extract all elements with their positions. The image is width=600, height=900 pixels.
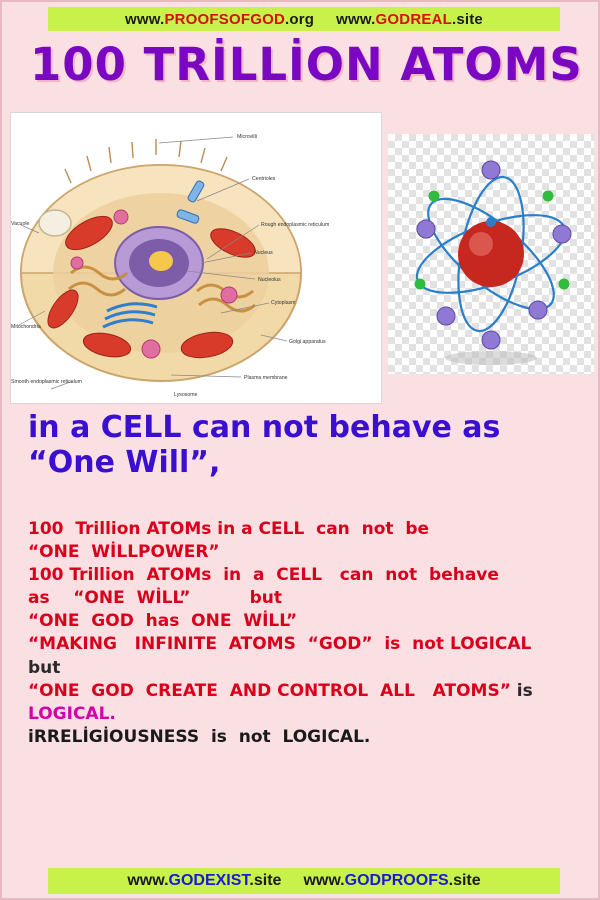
body-line: LOGICAL.	[28, 703, 588, 725]
svg-text:Nucleus: Nucleus	[254, 250, 273, 256]
body-segment: “MAKING INFINITE ATOMS “GOD” is not LOGI…	[28, 634, 531, 654]
svg-text:Mitochondria: Mitochondria	[11, 324, 41, 330]
poster-root: www.PROOFSOFGOD.org www.GODREAL.site 100…	[0, 0, 600, 900]
svg-text:Lysosome: Lysosome	[174, 392, 198, 398]
svg-text:Vacuole: Vacuole	[11, 221, 29, 227]
svg-text:Rough endoplasmic reticulum: Rough endoplasmic reticulum	[261, 222, 329, 228]
url-suffix: .site	[452, 11, 483, 28]
svg-text:Cytoplasm: Cytoplasm	[271, 300, 296, 306]
body-line: as “ONE WİLL” but	[28, 587, 588, 609]
body-segment: “ONE GOD CREATE AND CONTROL ALL ATOMS”	[28, 681, 511, 701]
url-suffix: .site	[249, 872, 281, 889]
page-title: 100 TRİLLİON ATOMS	[30, 38, 583, 91]
url-domain: GODEXIST	[169, 872, 250, 889]
body-segment: 100 Trillion ATOMs in a CELL can not beh…	[28, 565, 499, 585]
svg-text:Centrioles: Centrioles	[252, 176, 276, 182]
body-segment: but	[28, 658, 60, 678]
url-prefix: www.	[336, 11, 375, 28]
body-segment: “ONE WİLLPOWER”	[28, 542, 220, 562]
body-line: “ONE GOD has ONE WİLL”	[28, 610, 588, 632]
body-segment: “ONE GOD has ONE WİLL”	[28, 611, 297, 631]
svg-text:Golgi apparatus: Golgi apparatus	[289, 339, 326, 345]
atom-model-illustration	[388, 134, 594, 374]
subhead-line-1: in a CELL can not behave as	[28, 410, 500, 445]
body-line: 100 Trillion ATOMs in a CELL can not be	[28, 518, 588, 540]
url-domain: GODREAL	[376, 11, 452, 28]
url-prefix: www.	[303, 872, 344, 889]
animal-cell-diagram: Microvilli Centrioles Rough endoplasmic …	[10, 112, 382, 404]
body-line: 100 Trillion ATOMs in a CELL can not beh…	[28, 564, 588, 586]
url-prefix: www.	[125, 11, 164, 28]
top-banner: www.PROOFSOFGOD.org www.GODREAL.site	[48, 7, 560, 31]
body-segment: iRRELİGİOUSNESS is not LOGICAL.	[28, 727, 370, 747]
body-segment: is	[511, 681, 533, 701]
url-suffix: .site	[449, 872, 481, 889]
body-segment: as “ONE WİLL” but	[28, 588, 282, 608]
body-line: “ONE GOD CREATE AND CONTROL ALL ATOMS” i…	[28, 680, 588, 702]
bottom-banner: www.GODEXIST.site www.GODPROOFS.site	[48, 868, 560, 894]
body-line: iRRELİGİOUSNESS is not LOGICAL.	[28, 726, 588, 748]
svg-text:Microvilli: Microvilli	[237, 134, 257, 140]
illustration-row: Microvilli Centrioles Rough endoplasmic …	[10, 112, 594, 402]
body-segment: LOGICAL.	[28, 704, 116, 724]
url-prefix: www.	[127, 872, 168, 889]
bottom-banner-link-2[interactable]: www.GODPROOFS.site	[303, 872, 480, 890]
url-suffix: .org	[285, 11, 314, 28]
top-banner-link-2[interactable]: www.GODREAL.site	[336, 11, 483, 28]
body-line: but	[28, 657, 588, 679]
body-text: 100 Trillion ATOMs in a CELL can not be …	[28, 518, 588, 749]
url-domain: GODPROOFS	[345, 872, 449, 889]
svg-text:Nucleolus: Nucleolus	[258, 277, 281, 283]
subhead-line-2: “One Will”,	[28, 445, 588, 480]
svg-text:Plasma membrane: Plasma membrane	[244, 375, 288, 381]
top-banner-link-1[interactable]: www.PROOFSOFGOD.org	[125, 11, 314, 28]
body-line: “MAKING INFINITE ATOMS “GOD” is not LOGI…	[28, 633, 588, 655]
bottom-banner-link-1[interactable]: www.GODEXIST.site	[127, 872, 281, 890]
url-domain: PROOFSOFGOD	[164, 11, 285, 28]
body-segment: 100 Trillion ATOMs in a CELL can not be	[28, 519, 429, 539]
body-line: “ONE WİLLPOWER”	[28, 541, 588, 563]
svg-text:Smooth endoplasmic reticulum: Smooth endoplasmic reticulum	[11, 379, 82, 385]
subhead: in a CELL can not behave as “One Will”,	[28, 410, 588, 481]
